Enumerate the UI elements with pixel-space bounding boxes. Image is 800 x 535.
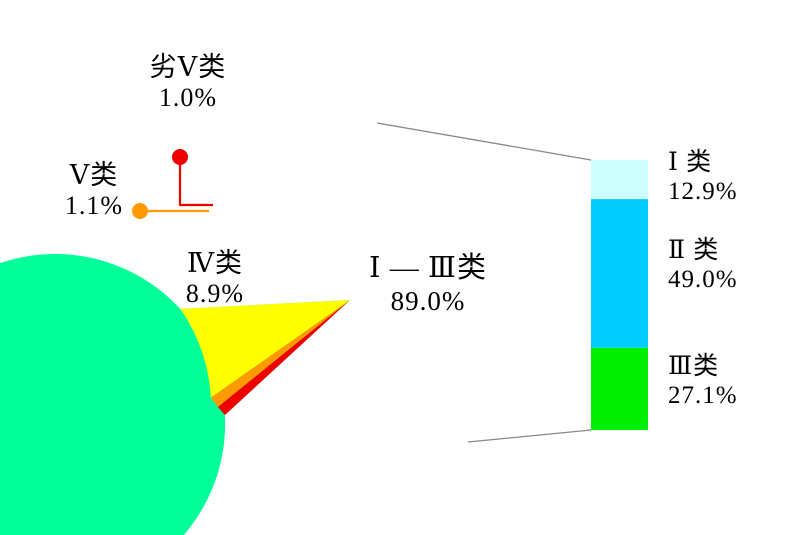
bar-label-ii: Ⅱ 类 49.0% [668, 236, 798, 294]
breakout-connector-bottom [468, 430, 591, 442]
callout-line-lv [180, 158, 213, 205]
pie-label-inferior-v-name: 劣Ⅴ类 [108, 52, 268, 83]
bar-segment-i [591, 160, 648, 199]
bar-label-i-percent: 12.9% [668, 177, 798, 206]
breakout-connector-top [377, 123, 591, 160]
bar-segment-ii [591, 199, 648, 348]
pie-label-inferior-v: 劣Ⅴ类 1.0% [108, 52, 268, 113]
pie-label-iv-percent: 8.9% [160, 279, 270, 309]
bar-label-iii-percent: 27.1% [668, 381, 798, 410]
pie-label-i-iii: Ⅰ — Ⅲ类 89.0% [333, 252, 523, 317]
chart-canvas: 劣Ⅴ类 1.0% Ⅴ类 1.1% Ⅳ类 8.9% Ⅰ — Ⅲ类 89.0% Ⅰ … [0, 0, 800, 535]
bar-label-ii-name: Ⅱ 类 [668, 236, 798, 265]
bar-label-iii: Ⅲ类 27.1% [668, 352, 798, 410]
bar-label-iii-name: Ⅲ类 [668, 352, 798, 381]
callout-dot-lv [172, 149, 188, 165]
pie-label-i-iii-name: Ⅰ — Ⅲ类 [333, 252, 523, 286]
bar-label-i: Ⅰ 类 12.9% [668, 148, 798, 206]
pie-label-iv-name: Ⅳ类 [160, 248, 270, 279]
bar-label-ii-percent: 49.0% [668, 265, 798, 294]
pie-label-v-percent: 1.1% [34, 191, 154, 221]
pie-label-i-iii-percent: 89.0% [333, 286, 523, 317]
bar-label-i-name: Ⅰ 类 [668, 148, 798, 177]
pie-label-inferior-v-percent: 1.0% [108, 83, 268, 113]
pie-label-v: Ⅴ类 1.1% [34, 160, 154, 221]
bar-segment-iii [591, 348, 648, 430]
pie-label-iv: Ⅳ类 8.9% [160, 248, 270, 309]
pie-label-v-name: Ⅴ类 [34, 160, 154, 191]
